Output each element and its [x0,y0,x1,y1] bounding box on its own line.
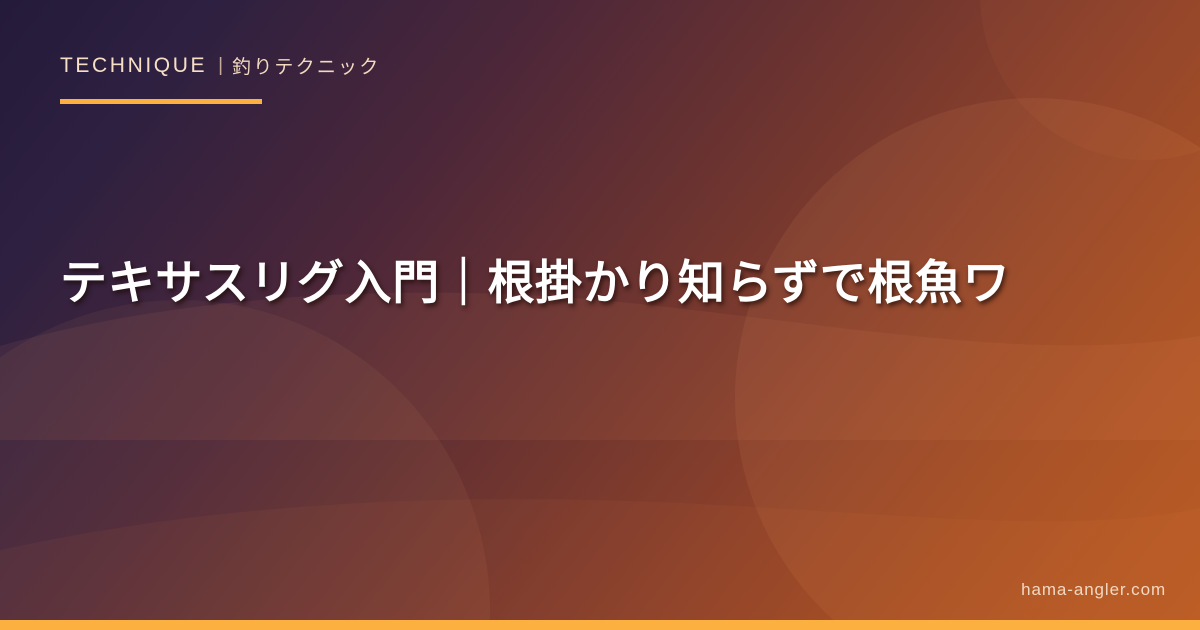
eyebrow-separator: | [218,55,223,77]
eyebrow-kicker: TECHNIQUE [60,54,207,78]
card-content: TECHNIQUE | 釣りテクニック テキサスリグ入門｜根掛かり知らずで根魚ワ… [0,0,1200,630]
eyebrow-category: 釣りテクニック [232,52,380,79]
page-title: テキサスリグ入門｜根掛かり知らずで根魚ワ [60,252,1150,315]
eyebrow-underline-rule [60,99,262,104]
site-url: hama-angler.com [1021,580,1166,600]
bottom-accent-bar [0,620,1200,630]
og-image-card: TECHNIQUE | 釣りテクニック テキサスリグ入門｜根掛かり知らずで根魚ワ… [0,0,1200,630]
eyebrow: TECHNIQUE | 釣りテクニック [60,52,380,79]
